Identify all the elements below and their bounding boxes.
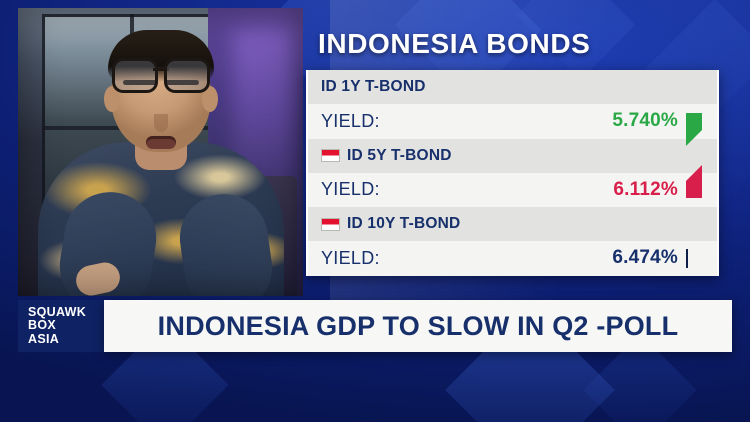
yield-value-1y: 5.740% <box>612 110 678 132</box>
yield-value-5y: 6.112% <box>613 179 678 201</box>
indonesia-flag-icon <box>321 149 340 162</box>
trend-up-icon <box>686 181 703 198</box>
show-name-line-1: SQUAWK <box>28 306 104 320</box>
table-row: YIELD: 6.474% <box>308 241 717 276</box>
yield-label: YIELD: <box>321 111 380 132</box>
show-name-block: SQUAWK BOX ASIA <box>18 300 104 352</box>
table-row: YIELD: 5.740% <box>308 104 717 139</box>
table-row: ID 10Y T-BOND <box>308 207 717 241</box>
bonds-panel: ID 1Y T-BOND YIELD: 5.740% ID 5Y T-BOND … <box>306 70 719 276</box>
bond-name-1y: ID 1Y T-BOND <box>321 78 426 96</box>
feed-vignette <box>18 8 303 296</box>
bond-name-10y: ID 10Y T-BOND <box>347 215 460 233</box>
page-title: INDONESIA BONDS <box>318 28 590 60</box>
yield-label: YIELD: <box>321 179 380 200</box>
video-feed <box>18 8 303 296</box>
table-row: YIELD: 6.112% <box>308 173 717 208</box>
bond-name-5y: ID 5Y T-BOND <box>347 147 452 165</box>
broadcast-screen: INDONESIA BONDS ID 1Y T-BOND YIELD: 5.74… <box>0 0 750 422</box>
yield-label: YIELD: <box>321 248 380 269</box>
show-name-line-3: ASIA <box>28 333 104 347</box>
trend-flat-icon <box>686 250 703 267</box>
indonesia-flag-icon <box>321 218 340 231</box>
table-row: ID 1Y T-BOND <box>308 70 717 104</box>
table-row: ID 5Y T-BOND <box>308 139 717 173</box>
yield-value-10y: 6.474% <box>612 247 678 269</box>
headline-banner: INDONESIA GDP TO SLOW IN Q2 -POLL <box>104 300 732 352</box>
headline-text: INDONESIA GDP TO SLOW IN Q2 -POLL <box>158 311 679 342</box>
trend-down-icon <box>686 113 703 130</box>
show-name-line-2: BOX <box>28 319 104 333</box>
